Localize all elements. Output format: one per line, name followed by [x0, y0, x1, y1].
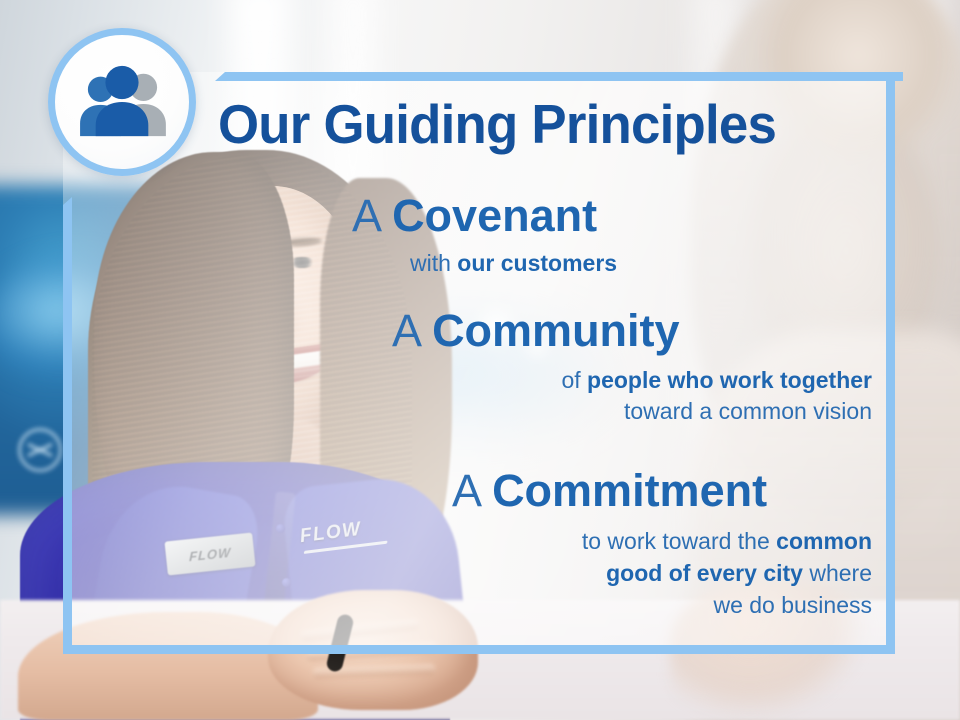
blurred-car-emblem: [18, 428, 62, 472]
sub-part-plain: with: [410, 250, 457, 276]
guiding-principles-graphic: FLOW FLOW: [0, 0, 960, 720]
frame-border-left: [63, 197, 72, 654]
name-badge-brand-text: FLOW: [189, 544, 232, 564]
sub-line: good of every city where: [452, 557, 872, 589]
principle-sub-commitment: to work toward the common good of every …: [452, 525, 872, 621]
principle-sub-covenant: with our customers: [410, 248, 872, 278]
frame-border-top: [215, 72, 903, 81]
frame-border-right: [886, 72, 895, 654]
principle-block-commitment: A Commitment to work toward the common g…: [452, 465, 872, 621]
principle-keyword: Covenant: [392, 190, 597, 241]
employee-polo-button: [282, 578, 291, 587]
sub-line: to work toward the common: [452, 525, 872, 557]
principle-lead-community: A Community: [392, 305, 872, 357]
principle-article: A: [392, 305, 420, 356]
principle-article: A: [452, 465, 480, 516]
principle-block-community: A Community of people who work together …: [392, 305, 872, 427]
principle-lead-commitment: A Commitment: [452, 465, 872, 517]
employee-polo-button: [276, 524, 285, 533]
sub-line: toward a common vision: [392, 396, 872, 427]
sub-line: we do business: [452, 589, 872, 621]
principle-keyword: Community: [432, 305, 680, 356]
principle-keyword: Commitment: [492, 465, 767, 516]
sub-part-bold: good of every city: [606, 560, 803, 586]
frame-border-bottom: [63, 645, 895, 654]
sub-part-bold: our customers: [457, 250, 617, 276]
principle-article: A: [352, 190, 380, 241]
people-group-icon: [73, 63, 171, 141]
people-group-icon-badge: [48, 28, 196, 176]
principle-sub-community: of people who work together toward a com…: [392, 365, 872, 427]
principle-lead-covenant: A Covenant: [352, 190, 872, 242]
page-title: Our Guiding Principles: [218, 94, 852, 154]
sub-part-plain: of: [561, 367, 587, 393]
principle-block-covenant: A Covenant with our customers: [352, 190, 872, 278]
sub-part-bold: people who work together: [587, 367, 872, 393]
sub-line: of people who work together: [392, 365, 872, 396]
sub-part-bold: common: [776, 528, 872, 554]
